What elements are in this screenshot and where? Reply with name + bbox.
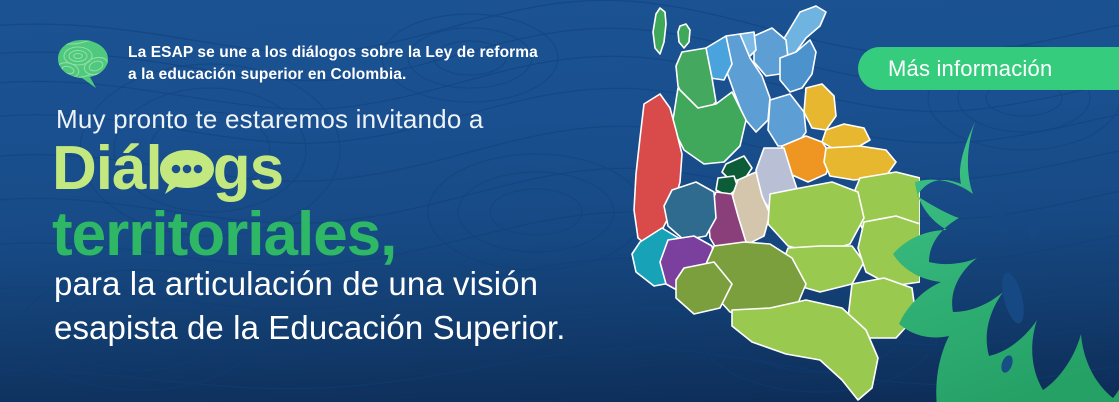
speech-bubble-icon [159, 149, 215, 195]
headline-line-1-prefix: Diál [52, 140, 162, 197]
esap-promo-banner: La ESAP se une a los diálogos sobre la L… [0, 0, 1119, 402]
map-region-arauca [822, 124, 870, 148]
headline-line-1-middle: g [213, 140, 250, 197]
map-region-norte-de-santander [804, 84, 836, 130]
eyebrow-block: La ESAP se une a los diálogos sobre la L… [56, 38, 576, 90]
headline: Diálgs territoriales, [52, 138, 396, 263]
subheadline-line-2: esapista de la Educación Superior. [54, 306, 566, 350]
map-region-guainia [858, 216, 920, 286]
map-region-meta [768, 182, 864, 254]
subheadline-line-1: para la articulación de una visión [54, 262, 566, 306]
headline-line-1: Diálgs [52, 138, 396, 200]
banner-content: La ESAP se une a los diálogos sobre la L… [0, 0, 660, 402]
map-region-valle-del-cauca [664, 182, 716, 240]
esap-speech-bubble-logo-icon [56, 38, 112, 90]
headline-line-1-suffix: s [250, 140, 283, 197]
mas-informacion-button[interactable]: Más información [858, 47, 1119, 90]
map-region-providencia [678, 24, 690, 48]
eyebrow-text: La ESAP se une a los diálogos sobre la L… [128, 38, 548, 86]
headline-line-2: territoriales, [52, 206, 396, 263]
kicker-text: Muy pronto te estaremos invitando a [56, 104, 484, 135]
subheadline: para la articulación de una visión esapi… [54, 262, 566, 349]
